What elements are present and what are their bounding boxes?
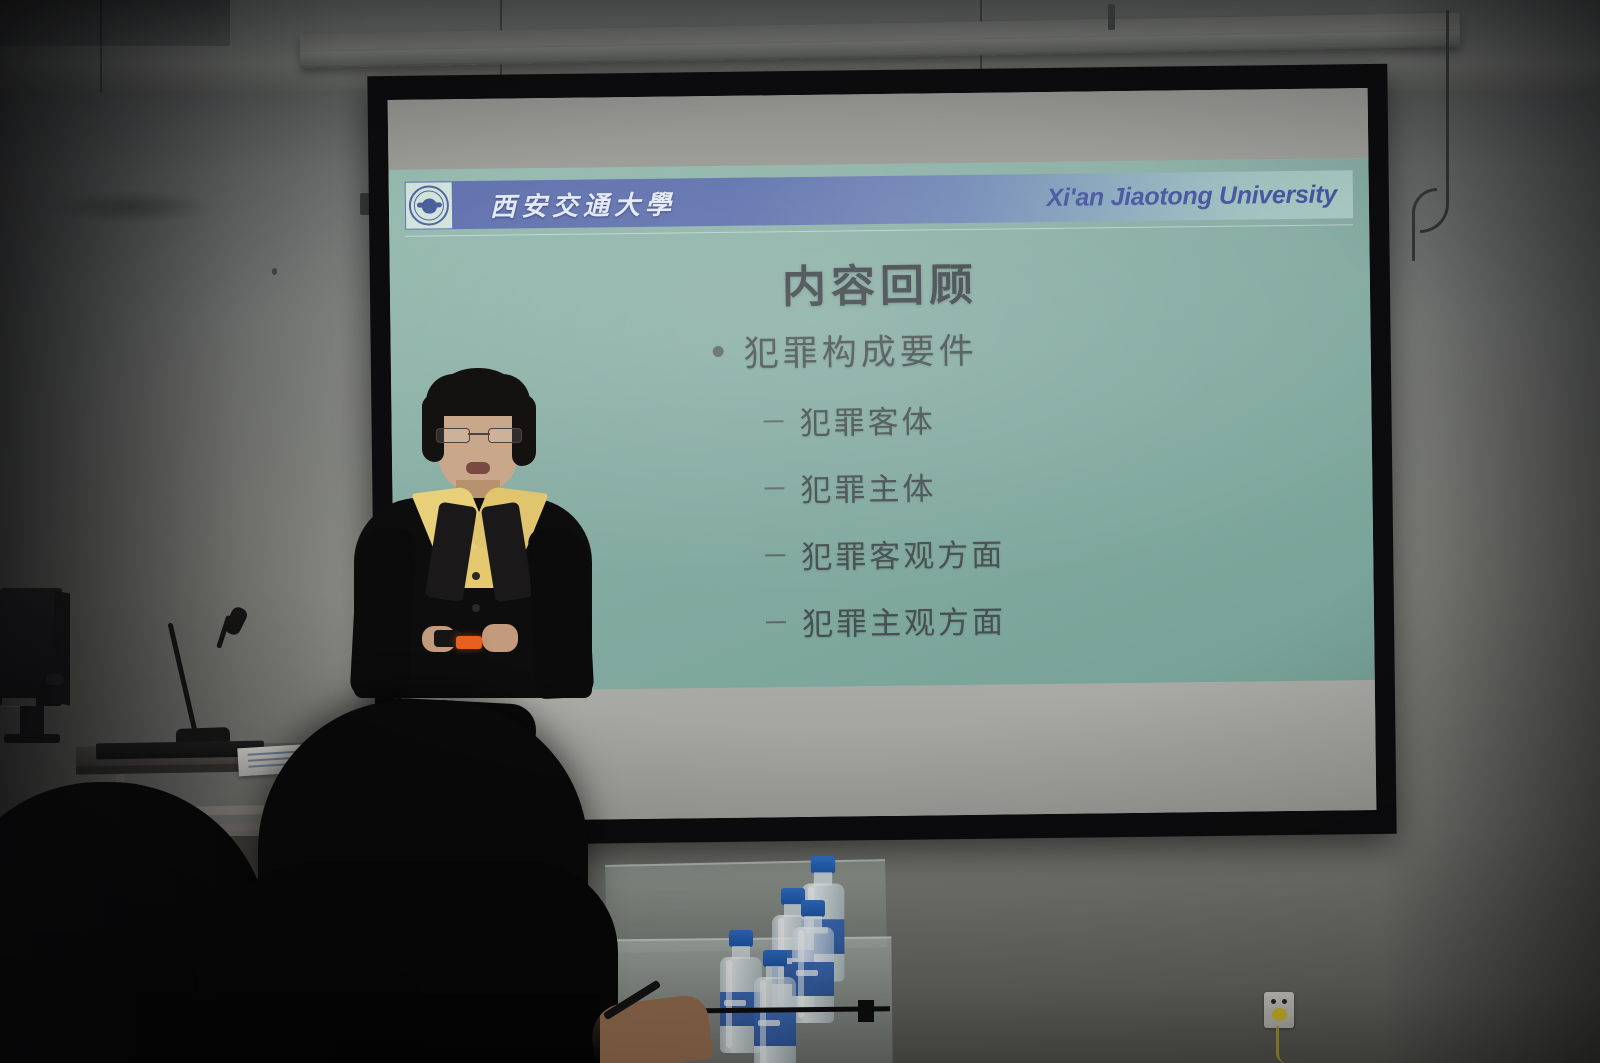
glasses-bridge bbox=[468, 433, 490, 435]
lecture-hall-photo: 西安交通大學 Xi'an Jiaotong University 内容回顾 犯罪… bbox=[0, 0, 1600, 1063]
bullet-dash-icon bbox=[764, 420, 784, 422]
table-rail-end bbox=[858, 1000, 874, 1022]
xjtu-seal-logo-icon bbox=[406, 182, 453, 229]
glasses-lens bbox=[436, 428, 470, 443]
left-shadow-gradient bbox=[0, 0, 340, 1063]
bullet-level2: 犯罪主体 bbox=[764, 458, 1373, 510]
bottle-cap bbox=[729, 930, 753, 947]
bullet-text: 犯罪客观方面 bbox=[801, 530, 1006, 577]
bullet-text: 犯罪客体 bbox=[799, 396, 936, 443]
bullet-dot-icon bbox=[713, 346, 724, 357]
bottle-highlight bbox=[760, 980, 766, 1063]
presenter-speaker bbox=[348, 368, 598, 698]
wall-power-outlet bbox=[1264, 992, 1294, 1028]
bottle-cap bbox=[763, 950, 787, 967]
bullet-level2: 犯罪主观方面 bbox=[766, 592, 1375, 644]
laser-pointer bbox=[456, 636, 482, 649]
university-name-chinese: 西安交通大學 bbox=[490, 184, 676, 223]
bottle-cap bbox=[811, 856, 835, 873]
seal-ring bbox=[409, 185, 449, 225]
ceiling-hook-icon bbox=[1108, 4, 1115, 30]
jacket-button bbox=[472, 572, 480, 580]
slide-title: 内容回顾 bbox=[390, 244, 1371, 320]
bullet-level2: 犯罪客体 bbox=[763, 391, 1372, 443]
bullet-dash-icon bbox=[766, 621, 786, 623]
slide-header-bar: 西安交通大學 Xi'an Jiaotong University bbox=[405, 170, 1354, 230]
glasses-lens bbox=[488, 428, 522, 443]
outlet-plug bbox=[1272, 1008, 1287, 1021]
letterbox-top bbox=[388, 88, 1369, 170]
glasses-icon bbox=[436, 428, 522, 441]
bullet-dash-icon bbox=[765, 554, 785, 556]
bullet-level2: 犯罪客观方面 bbox=[765, 525, 1374, 577]
bottle-highlight bbox=[798, 930, 804, 1018]
bottle-cap bbox=[801, 900, 825, 917]
bullet-level1: 犯罪构成要件 bbox=[712, 318, 1371, 377]
outlet-holes bbox=[1271, 999, 1287, 1004]
outlet-wire bbox=[1276, 1026, 1289, 1063]
presenter-hand bbox=[482, 624, 518, 652]
bullet-text: 犯罪主体 bbox=[800, 463, 937, 510]
presenter-mouth bbox=[466, 462, 490, 474]
bullet-text: 犯罪构成要件 bbox=[743, 323, 978, 377]
presenter-arm bbox=[350, 527, 417, 700]
presenter-arm bbox=[528, 527, 595, 700]
university-name-english: Xi'an Jiaotong University bbox=[1047, 180, 1338, 213]
seal-core bbox=[421, 198, 436, 213]
bullet-text: 犯罪主观方面 bbox=[802, 596, 1007, 643]
bottle-highlight bbox=[726, 960, 732, 1048]
bullet-dash-icon bbox=[764, 487, 784, 489]
right-shadow-gradient bbox=[1380, 0, 1600, 1063]
jacket-button bbox=[472, 604, 480, 612]
